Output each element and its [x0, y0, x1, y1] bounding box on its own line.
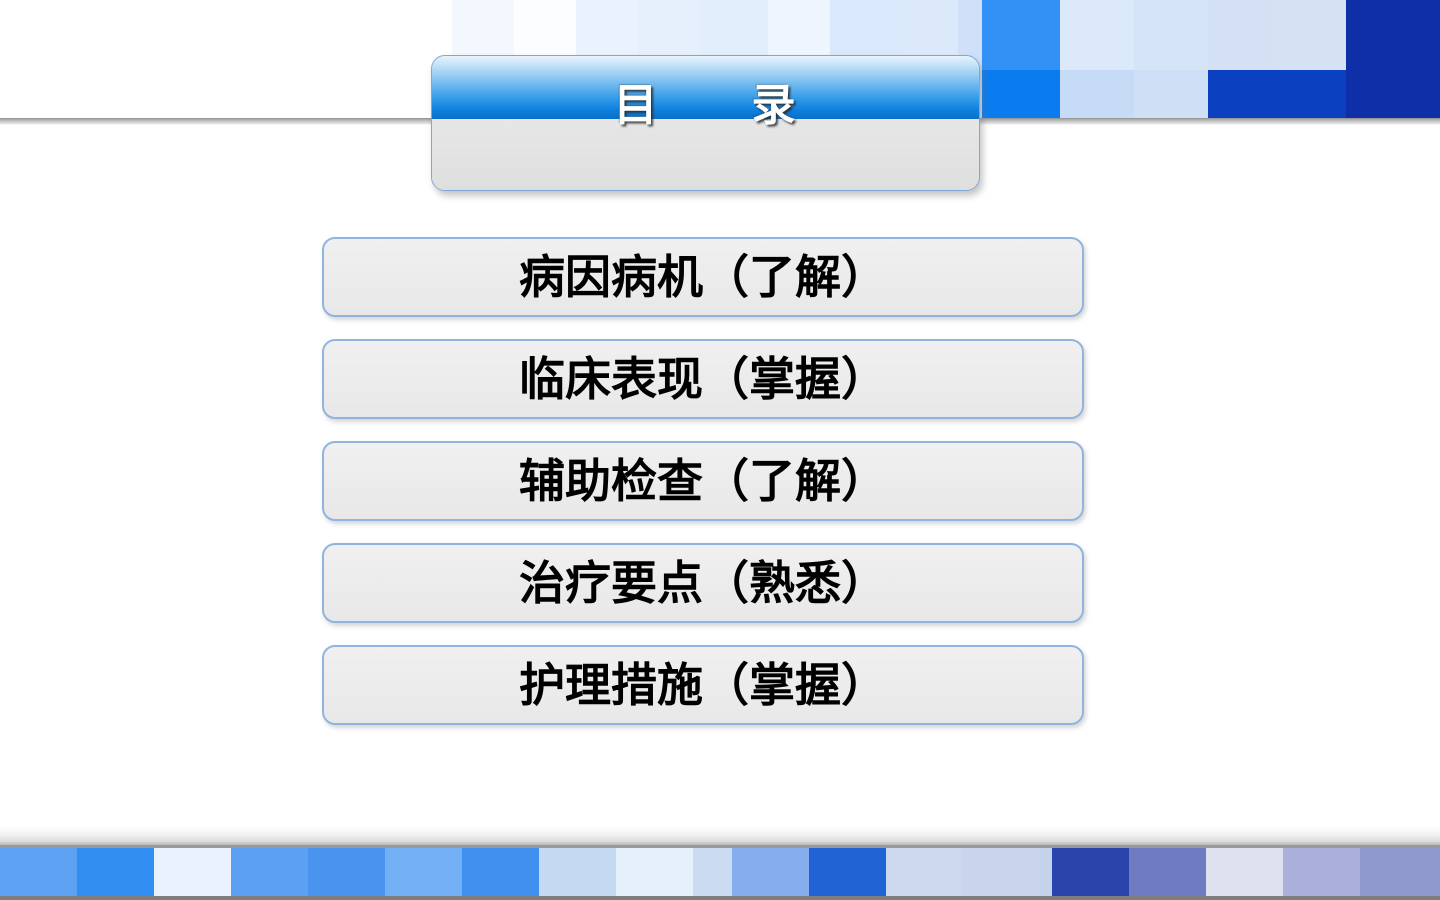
bottom-banner-block: [963, 848, 1040, 900]
bottom-decorative-banner: [0, 848, 1440, 900]
top-banner-block: [1134, 0, 1208, 70]
bottom-banner-block: [154, 848, 231, 900]
bottom-banner-block: [1283, 848, 1360, 900]
contents-list: 病因病机（了解）临床表现（掌握）辅助检查（了解）治疗要点（熟悉）护理措施（掌握）: [322, 237, 1084, 747]
top-banner-block: [1060, 0, 1134, 70]
contents-item-label: 护理措施（掌握）: [519, 662, 887, 708]
top-banner-block: [1060, 70, 1134, 118]
bottom-banner-block: [732, 848, 809, 900]
bottom-banner-block: [1206, 848, 1283, 900]
bottom-banner-block: [693, 848, 732, 900]
page-title: 目 录: [432, 56, 979, 191]
top-banner-block: [1134, 70, 1208, 118]
top-banner-block: [1346, 0, 1440, 118]
bottom-banner-block: [231, 848, 308, 900]
bottom-banner-block: [809, 848, 886, 900]
contents-item-2[interactable]: 临床表现（掌握）: [322, 339, 1084, 419]
contents-item-label: 辅助检查（了解）: [519, 458, 887, 504]
bottom-banner-block: [0, 848, 77, 900]
contents-item-label: 病因病机（了解）: [519, 254, 887, 300]
bottom-banner-block: [1129, 848, 1206, 900]
contents-item-label: 治疗要点（熟悉）: [519, 560, 887, 606]
bottom-banner-block: [1040, 848, 1052, 900]
bottom-banner-block: [539, 848, 616, 900]
top-banner-block: [0, 0, 452, 118]
bottom-banner-block: [616, 848, 693, 900]
top-banner-block: [1208, 70, 1346, 118]
contents-item-1[interactable]: 病因病机（了解）: [322, 237, 1084, 317]
bottom-banner-block: [886, 848, 963, 900]
contents-item-5[interactable]: 护理措施（掌握）: [322, 645, 1084, 725]
title-plaque: 目 录: [431, 55, 980, 191]
bottom-banner-fade: [0, 826, 1440, 845]
bottom-banner-block: [385, 848, 462, 900]
bottom-banner-block: [308, 848, 385, 900]
slide-canvas: 目 录 病因病机（了解）临床表现（掌握）辅助检查（了解）治疗要点（熟悉）护理措施…: [0, 0, 1440, 900]
contents-item-3[interactable]: 辅助检查（了解）: [322, 441, 1084, 521]
contents-item-label: 临床表现（掌握）: [519, 356, 887, 402]
top-banner-block: [1274, 0, 1346, 70]
bottom-banner-block: [462, 848, 539, 900]
contents-item-4[interactable]: 治疗要点（熟悉）: [322, 543, 1084, 623]
top-banner-block: [982, 70, 1060, 118]
bottom-banner-edge: [0, 896, 1440, 900]
bottom-banner-block: [1360, 848, 1440, 900]
bottom-banner-block: [1052, 848, 1129, 900]
bottom-banner-block: [77, 848, 154, 900]
top-banner-block: [1208, 0, 1274, 70]
top-banner-block: [982, 0, 1060, 70]
